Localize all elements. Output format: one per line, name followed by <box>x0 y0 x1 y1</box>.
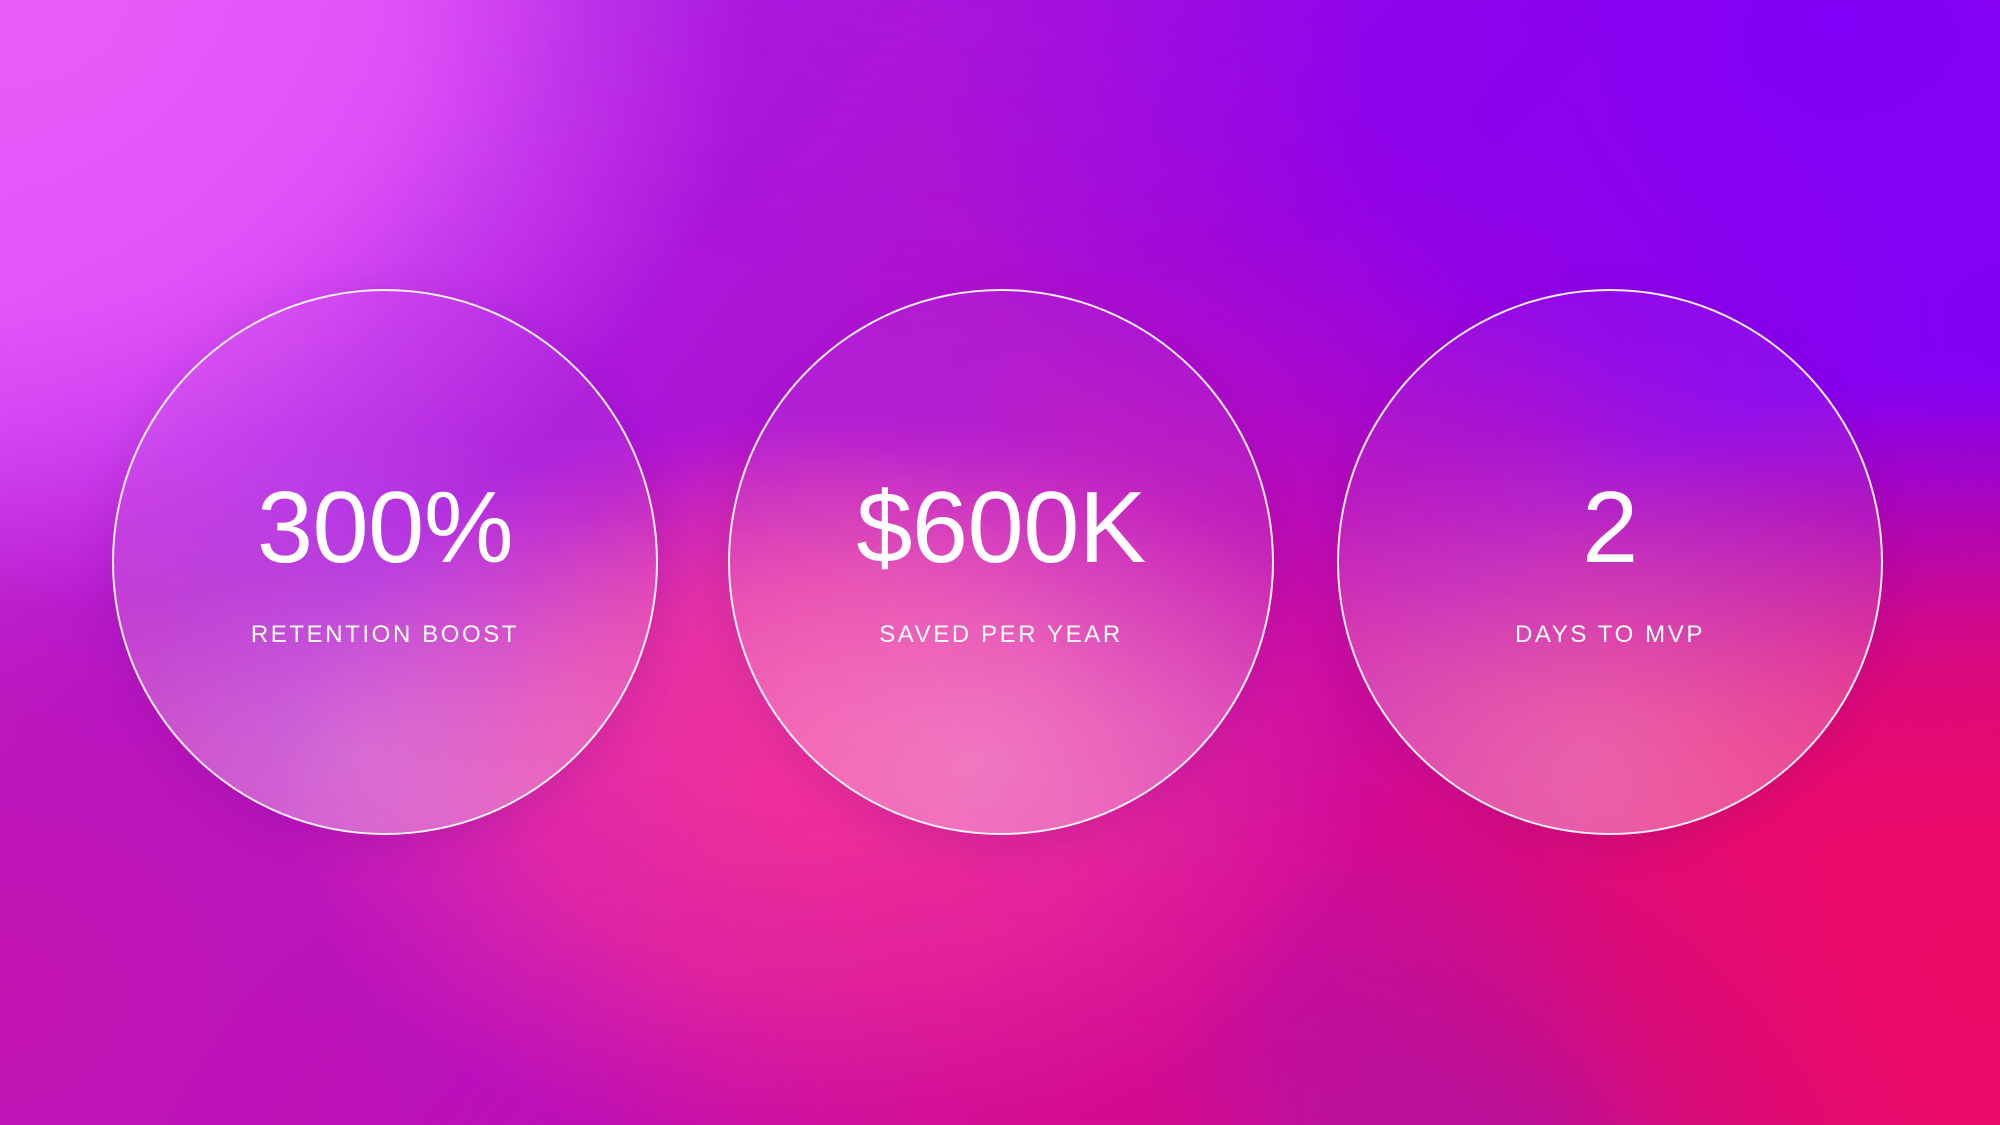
stat-value: $600K <box>856 478 1146 579</box>
stat-circle-retention-boost: 300% RETENTION BOOST <box>112 289 658 835</box>
stats-circle-row: 300% RETENTION BOOST $600K SAVED PER YEA… <box>0 0 2000 1125</box>
stat-value: 2 <box>1582 478 1638 579</box>
stat-circle-days-to-mvp: 2 DAYS TO MVP <box>1337 289 1883 835</box>
stat-label: DAYS TO MVP <box>1515 623 1705 647</box>
stat-label: SAVED PER YEAR <box>879 623 1123 647</box>
stats-hero-section: 300% RETENTION BOOST $600K SAVED PER YEA… <box>0 0 2000 1125</box>
stat-circle-saved-per-year: $600K SAVED PER YEAR <box>728 289 1274 835</box>
stat-label: RETENTION BOOST <box>251 623 519 647</box>
stat-value: 300% <box>257 478 513 579</box>
